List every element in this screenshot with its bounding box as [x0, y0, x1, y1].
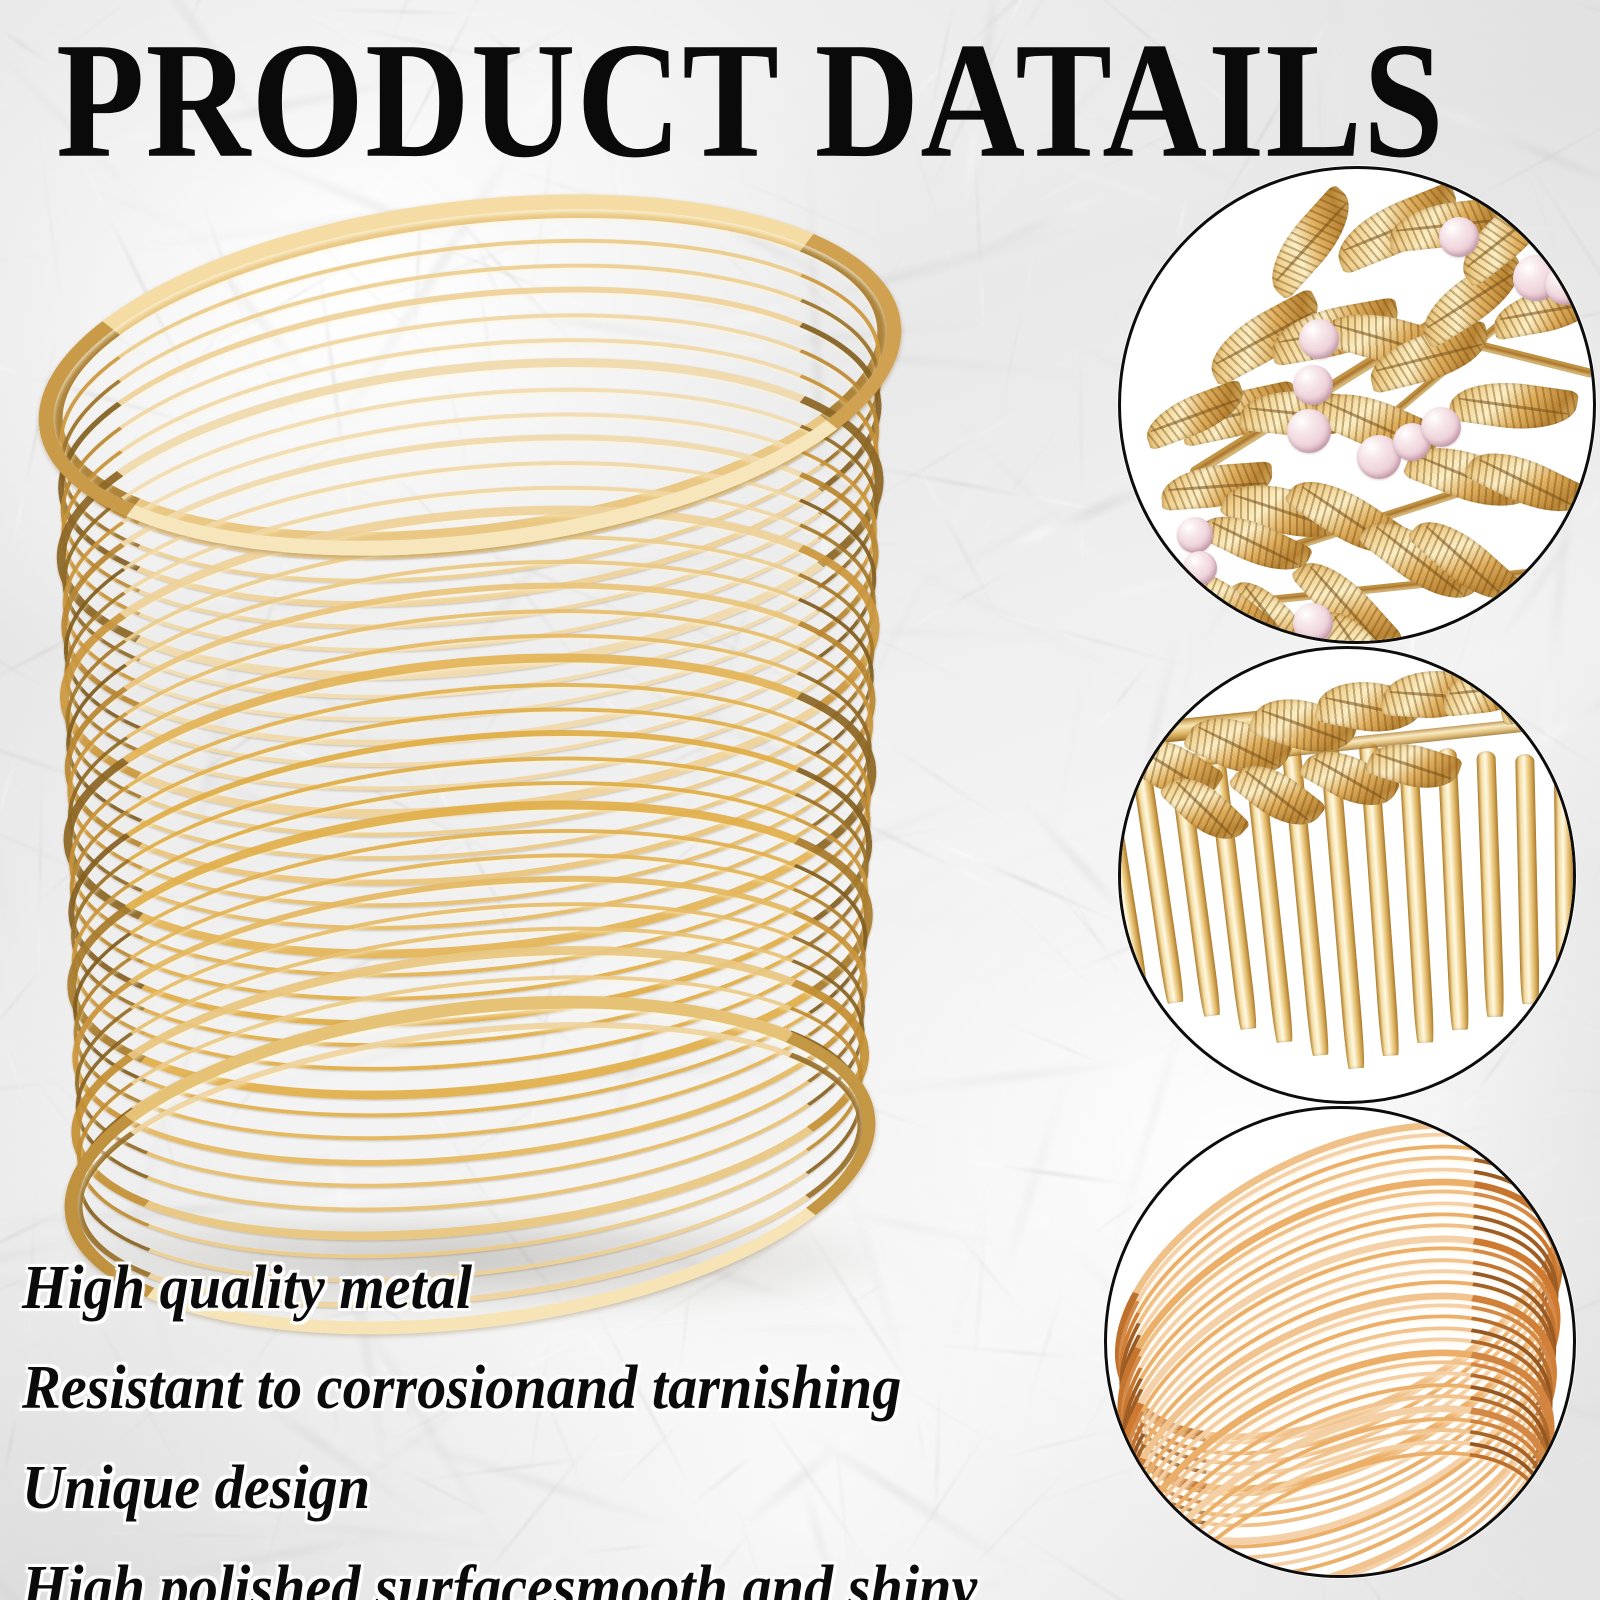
- feature-list: High quality metal Resistant to corrosio…: [22, 1238, 1102, 1600]
- feature-item: High polished surfacesmooth and shiny: [22, 1538, 1037, 1600]
- gold-hair-comb-art: [1121, 649, 1573, 1101]
- gold-wire-cuff-bracelet: [20, 225, 920, 1295]
- feature-item: Resistant to corrosionand tarnishing: [22, 1338, 1037, 1438]
- feature-item: Unique design: [22, 1438, 1037, 1538]
- gold-wire-cuff-angled-art: [1107, 1109, 1573, 1575]
- feature-item: High quality metal: [22, 1238, 1037, 1338]
- detail-circle-leaf-pearl-hairpiece: [1118, 166, 1596, 644]
- main-product-image: [20, 225, 920, 1295]
- detail-circle-hair-comb: [1118, 646, 1576, 1104]
- page-title: PRODUCT DATAILS: [56, 18, 1526, 184]
- product-detail-image: PRODUCT DATAILS High quality metal Resis…: [0, 0, 1600, 1600]
- detail-circle-cuff-angled: [1104, 1106, 1576, 1578]
- gold-leaf-pearl-art: [1121, 169, 1593, 641]
